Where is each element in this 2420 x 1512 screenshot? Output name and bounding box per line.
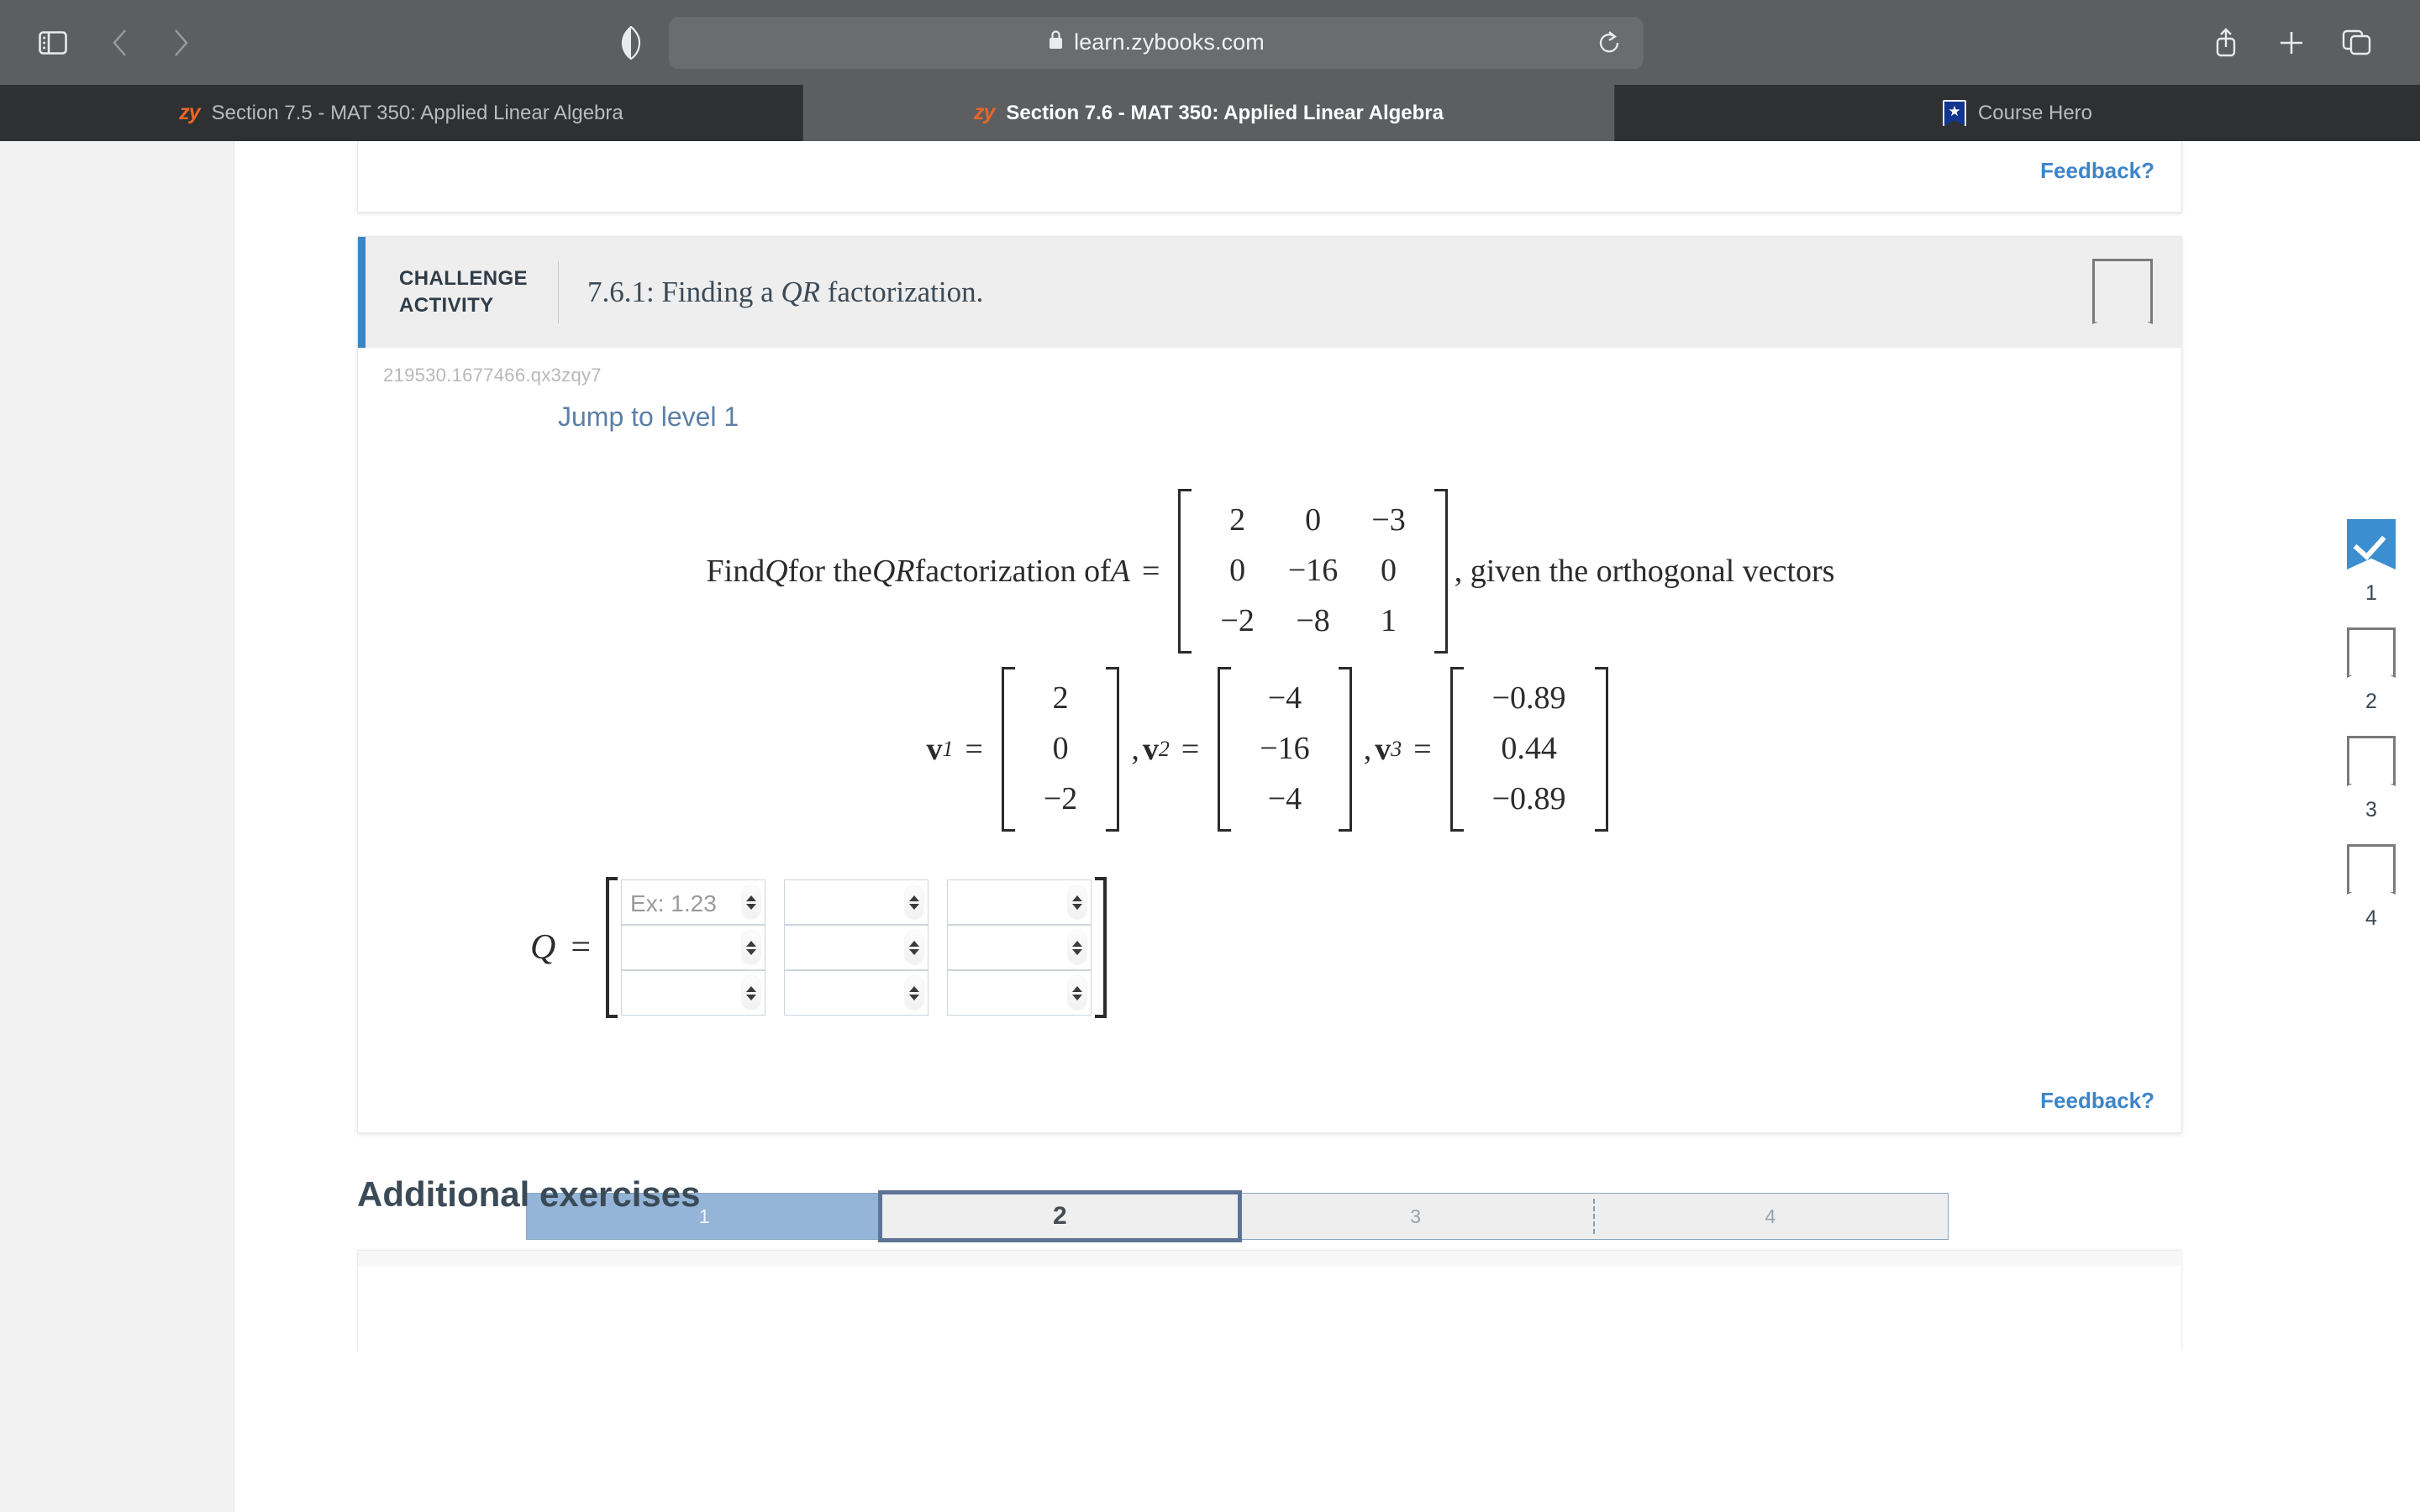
stepper-control[interactable]: [742, 931, 760, 964]
sidebar-toggle-icon[interactable]: [34, 24, 72, 62]
orthogonal-vectors: v1 = 2 0 −2 , v2 =: [358, 667, 2183, 832]
matrix-cell: −2: [1203, 596, 1270, 647]
stepper-up-icon[interactable]: [909, 895, 919, 901]
vector-cell: −2: [1027, 774, 1094, 825]
level-badge-3[interactable]: 3: [2347, 736, 2396, 844]
previous-activity-card: Feedback?: [357, 141, 2182, 213]
stepper-up-icon[interactable]: [746, 986, 756, 992]
kicker-line-2: ACTIVITY: [399, 292, 528, 319]
badge-label: 2: [2365, 690, 2377, 714]
progress-segment-4[interactable]: 4: [1593, 1194, 1948, 1239]
stepper-down-icon[interactable]: [746, 995, 756, 1000]
stepper-down-icon[interactable]: [746, 904, 756, 910]
vector-v1: v1 = 2 0 −2: [926, 667, 1126, 832]
shield-check-icon: [2347, 519, 2396, 570]
question-symbol-qr: QR: [872, 553, 915, 590]
challenge-activity-header: CHALLENGE ACTIVITY 7.6.1: Finding a QR f…: [358, 237, 2181, 348]
back-chevron-icon[interactable]: [101, 24, 139, 62]
forward-chevron-icon[interactable]: [161, 24, 200, 62]
stepper-down-icon[interactable]: [1072, 904, 1082, 910]
stepper-up-icon[interactable]: [1072, 941, 1082, 947]
left-rail: [0, 141, 234, 1512]
matrix-cell: 0: [1271, 496, 1355, 546]
tab-label: Section 7.6 - MAT 350: Applied Linear Al…: [1006, 102, 1444, 125]
answer-cell-2-1[interactable]: [621, 925, 765, 970]
comma-separator: ,: [1131, 731, 1139, 768]
vector-v2: v2 = −4 −16 −4: [1143, 667, 1359, 832]
bracket-right: [1595, 667, 1608, 832]
challenge-activity-kicker: CHALLENGE ACTIVITY: [399, 265, 528, 320]
bracket-right: [1106, 667, 1119, 832]
vector-cell: −4: [1243, 674, 1326, 724]
zybooks-logo-icon: zy: [179, 101, 199, 125]
bookmark-icon[interactable]: [2092, 259, 2153, 324]
level-badge-2[interactable]: 2: [2347, 627, 2396, 736]
stepper-control[interactable]: [905, 976, 923, 1010]
stepper-control[interactable]: [742, 885, 760, 919]
stepper-down-icon[interactable]: [909, 995, 919, 1000]
reload-icon[interactable]: [1593, 27, 1625, 59]
question-lead-2: for the: [788, 553, 872, 590]
answer-cell-3-2[interactable]: [784, 970, 929, 1016]
url-text-group: learn.zybooks.com: [1048, 29, 1265, 56]
jump-to-level-link[interactable]: Jump to level 1: [558, 402, 739, 433]
equals-sign: =: [1142, 553, 1160, 590]
bracket-left: [606, 877, 618, 1018]
answer-cell-3-1[interactable]: [621, 970, 765, 1016]
level-badge-rail: 1 2 3 4: [2321, 519, 2420, 953]
bracket-right: [1339, 667, 1352, 832]
stepper-control[interactable]: [905, 931, 923, 964]
answer-input-grid: [621, 879, 1092, 1016]
answer-cell-1-2[interactable]: [784, 879, 929, 925]
tab-overview-icon[interactable]: [2338, 24, 2376, 62]
page-body: Feedback? CHALLENGE ACTIVITY 7.6.1: Find…: [0, 141, 2420, 1512]
kicker-line-1: CHALLENGE: [399, 265, 528, 292]
stepper-up-icon[interactable]: [909, 986, 919, 992]
equals-sign: =: [1181, 731, 1199, 768]
stepper-up-icon[interactable]: [1072, 986, 1082, 992]
bracket-right: [1095, 877, 1107, 1018]
stepper-down-icon[interactable]: [1072, 995, 1082, 1000]
equals-sign: =: [1413, 731, 1431, 768]
bracket-right: [1434, 489, 1448, 654]
stepper-down-icon[interactable]: [1072, 949, 1082, 955]
question-symbol-q: Q: [765, 553, 787, 590]
vector-subscript: 3: [1391, 737, 1402, 762]
equals-sign: =: [571, 927, 591, 968]
title-prefix: 7.6.1: Finding a: [587, 276, 781, 308]
card-top-strip: [358, 1251, 2183, 1266]
progress-segment-3[interactable]: 3: [1239, 1194, 1593, 1239]
lock-icon: [1048, 29, 1064, 56]
plus-icon[interactable]: [2272, 24, 2311, 62]
answer-matrix-q: Q =: [530, 877, 1107, 1018]
stepper-up-icon[interactable]: [1072, 895, 1082, 901]
question-symbol-a: A: [1111, 553, 1130, 590]
stepper-up-icon[interactable]: [746, 941, 756, 947]
matrix-cell: −16: [1271, 546, 1355, 596]
answer-label-q: Q: [530, 927, 555, 968]
tab-label: Course Hero: [1978, 102, 2092, 125]
stepper-up-icon[interactable]: [909, 941, 919, 947]
level-progress-bar: 1 2 3 4: [526, 1193, 1949, 1240]
badge-label: 1: [2365, 581, 2377, 606]
header-divider: [558, 261, 559, 323]
question-lead-1: Find: [707, 553, 765, 590]
vector-subscript: 1: [942, 737, 953, 762]
tab-section-7-5[interactable]: zy Section 7.5 - MAT 350: Applied Linear…: [0, 85, 803, 141]
matrix-cell: 1: [1355, 596, 1422, 647]
vector-name: v: [1375, 731, 1391, 768]
stepper-down-icon[interactable]: [909, 904, 919, 910]
comma-separator: ,: [1364, 731, 1372, 768]
level-badge-4[interactable]: 4: [2347, 844, 2396, 953]
matrix-cell: 0: [1355, 546, 1422, 596]
title-suffix: factorization.: [820, 276, 983, 308]
stepper-down-icon[interactable]: [746, 949, 756, 955]
vector-subscript: 2: [1159, 737, 1170, 762]
stepper-control[interactable]: [742, 976, 760, 1010]
tab-course-hero[interactable]: ★ Course Hero: [1615, 85, 2420, 141]
matrix-a: 2 0 −3 0 −16 0 −2 −8 1: [1178, 489, 1447, 654]
equals-sign: =: [965, 731, 982, 768]
content-column: Feedback? CHALLENGE ACTIVITY 7.6.1: Find…: [235, 141, 2420, 1512]
vector-cell: −0.89: [1476, 674, 1583, 724]
feedback-link-top[interactable]: Feedback?: [2040, 158, 2154, 184]
shield-empty-icon: [2347, 844, 2396, 895]
question-lead-3: factorization of: [915, 553, 1111, 590]
question-statement: Find Q for the QR factorization of A = 2…: [358, 489, 2183, 654]
vector-cell: 0: [1027, 724, 1094, 774]
vector-matrix: 2 0 −2: [1002, 667, 1119, 832]
level-badge-1[interactable]: 1: [2347, 519, 2396, 627]
vector-cell: −0.89: [1476, 774, 1583, 825]
vector-name: v: [926, 731, 942, 768]
vector-cell: 2: [1027, 674, 1094, 724]
matrix-a-grid: 2 0 −3 0 −16 0 −2 −8 1: [1192, 489, 1434, 654]
vector-grid: −0.89 0.44 −0.89: [1464, 667, 1595, 832]
toolbar-right-actions: [2207, 24, 2376, 62]
answer-cell-3-3[interactable]: [947, 970, 1092, 1016]
stepper-control[interactable]: [1068, 976, 1086, 1010]
zybooks-logo-icon: zy: [974, 101, 994, 125]
challenge-activity-title: 7.6.1: Finding a QR factorization.: [587, 276, 983, 309]
stepper-down-icon[interactable]: [909, 949, 919, 955]
course-hero-logo-icon: ★: [1943, 100, 1966, 127]
bracket-left: [1178, 489, 1192, 654]
matrix-cell: −8: [1271, 596, 1355, 647]
activity-id-text: 219530.1677466.qx3zqy7: [383, 365, 602, 386]
stepper-control[interactable]: [1068, 885, 1086, 919]
vector-grid: −4 −16 −4: [1231, 667, 1338, 832]
tab-section-7-6[interactable]: zy Section 7.6 - MAT 350: Applied Linear…: [803, 85, 1615, 141]
additional-exercises-card: [357, 1250, 2182, 1351]
additional-exercises-heading: Additional exercises: [357, 1174, 701, 1215]
question-trailing-text: , given the orthogonal vectors: [1455, 553, 1835, 590]
bracket-left: [1218, 667, 1231, 832]
privacy-shield-icon[interactable]: [612, 24, 650, 62]
feedback-link-bottom[interactable]: Feedback?: [2040, 1088, 2154, 1114]
vector-cell: −4: [1243, 774, 1326, 825]
vector-name: v: [1143, 731, 1159, 768]
vector-v3: v3 = −0.89 0.44 −0.89: [1375, 667, 1614, 832]
vector-grid: 2 0 −2: [1015, 667, 1106, 832]
matrix-cell: −3: [1355, 496, 1422, 546]
tab-label: Section 7.5 - MAT 350: Applied Linear Al…: [212, 102, 623, 125]
browser-toolbar: learn.zybooks.com: [0, 0, 2420, 85]
vector-matrix: −4 −16 −4: [1218, 667, 1351, 832]
shield-empty-icon: [2347, 736, 2396, 786]
matrix-cell: 0: [1203, 546, 1270, 596]
tab-bar: zy Section 7.5 - MAT 350: Applied Linear…: [0, 85, 2420, 141]
answer-cell-1-1[interactable]: [621, 879, 765, 925]
answer-cell-1-3[interactable]: [947, 879, 1092, 925]
nav-buttons: [101, 24, 200, 62]
badge-label: 4: [2365, 906, 2377, 931]
vector-cell: −16: [1243, 724, 1326, 774]
share-icon[interactable]: [2207, 24, 2245, 62]
progress-segment-2[interactable]: 2: [881, 1194, 1238, 1239]
title-math-qr: QR: [781, 276, 820, 308]
vector-matrix: −0.89 0.44 −0.89: [1450, 667, 1608, 832]
url-text: learn.zybooks.com: [1074, 29, 1265, 55]
shield-empty-icon: [2347, 627, 2396, 678]
answer-cell-2-3[interactable]: [947, 925, 1092, 970]
vector-cell: 0.44: [1476, 724, 1583, 774]
answer-cell-2-2[interactable]: [784, 925, 929, 970]
url-bar[interactable]: learn.zybooks.com: [669, 17, 1644, 69]
stepper-up-icon[interactable]: [746, 895, 756, 901]
bracket-left: [1002, 667, 1015, 832]
stepper-control[interactable]: [905, 885, 923, 919]
stepper-control[interactable]: [1068, 931, 1086, 964]
bracket-left: [1450, 667, 1464, 832]
challenge-activity-card: CHALLENGE ACTIVITY 7.6.1: Finding a QR f…: [357, 236, 2182, 1133]
badge-label: 3: [2365, 798, 2377, 822]
matrix-cell: 2: [1203, 496, 1270, 546]
